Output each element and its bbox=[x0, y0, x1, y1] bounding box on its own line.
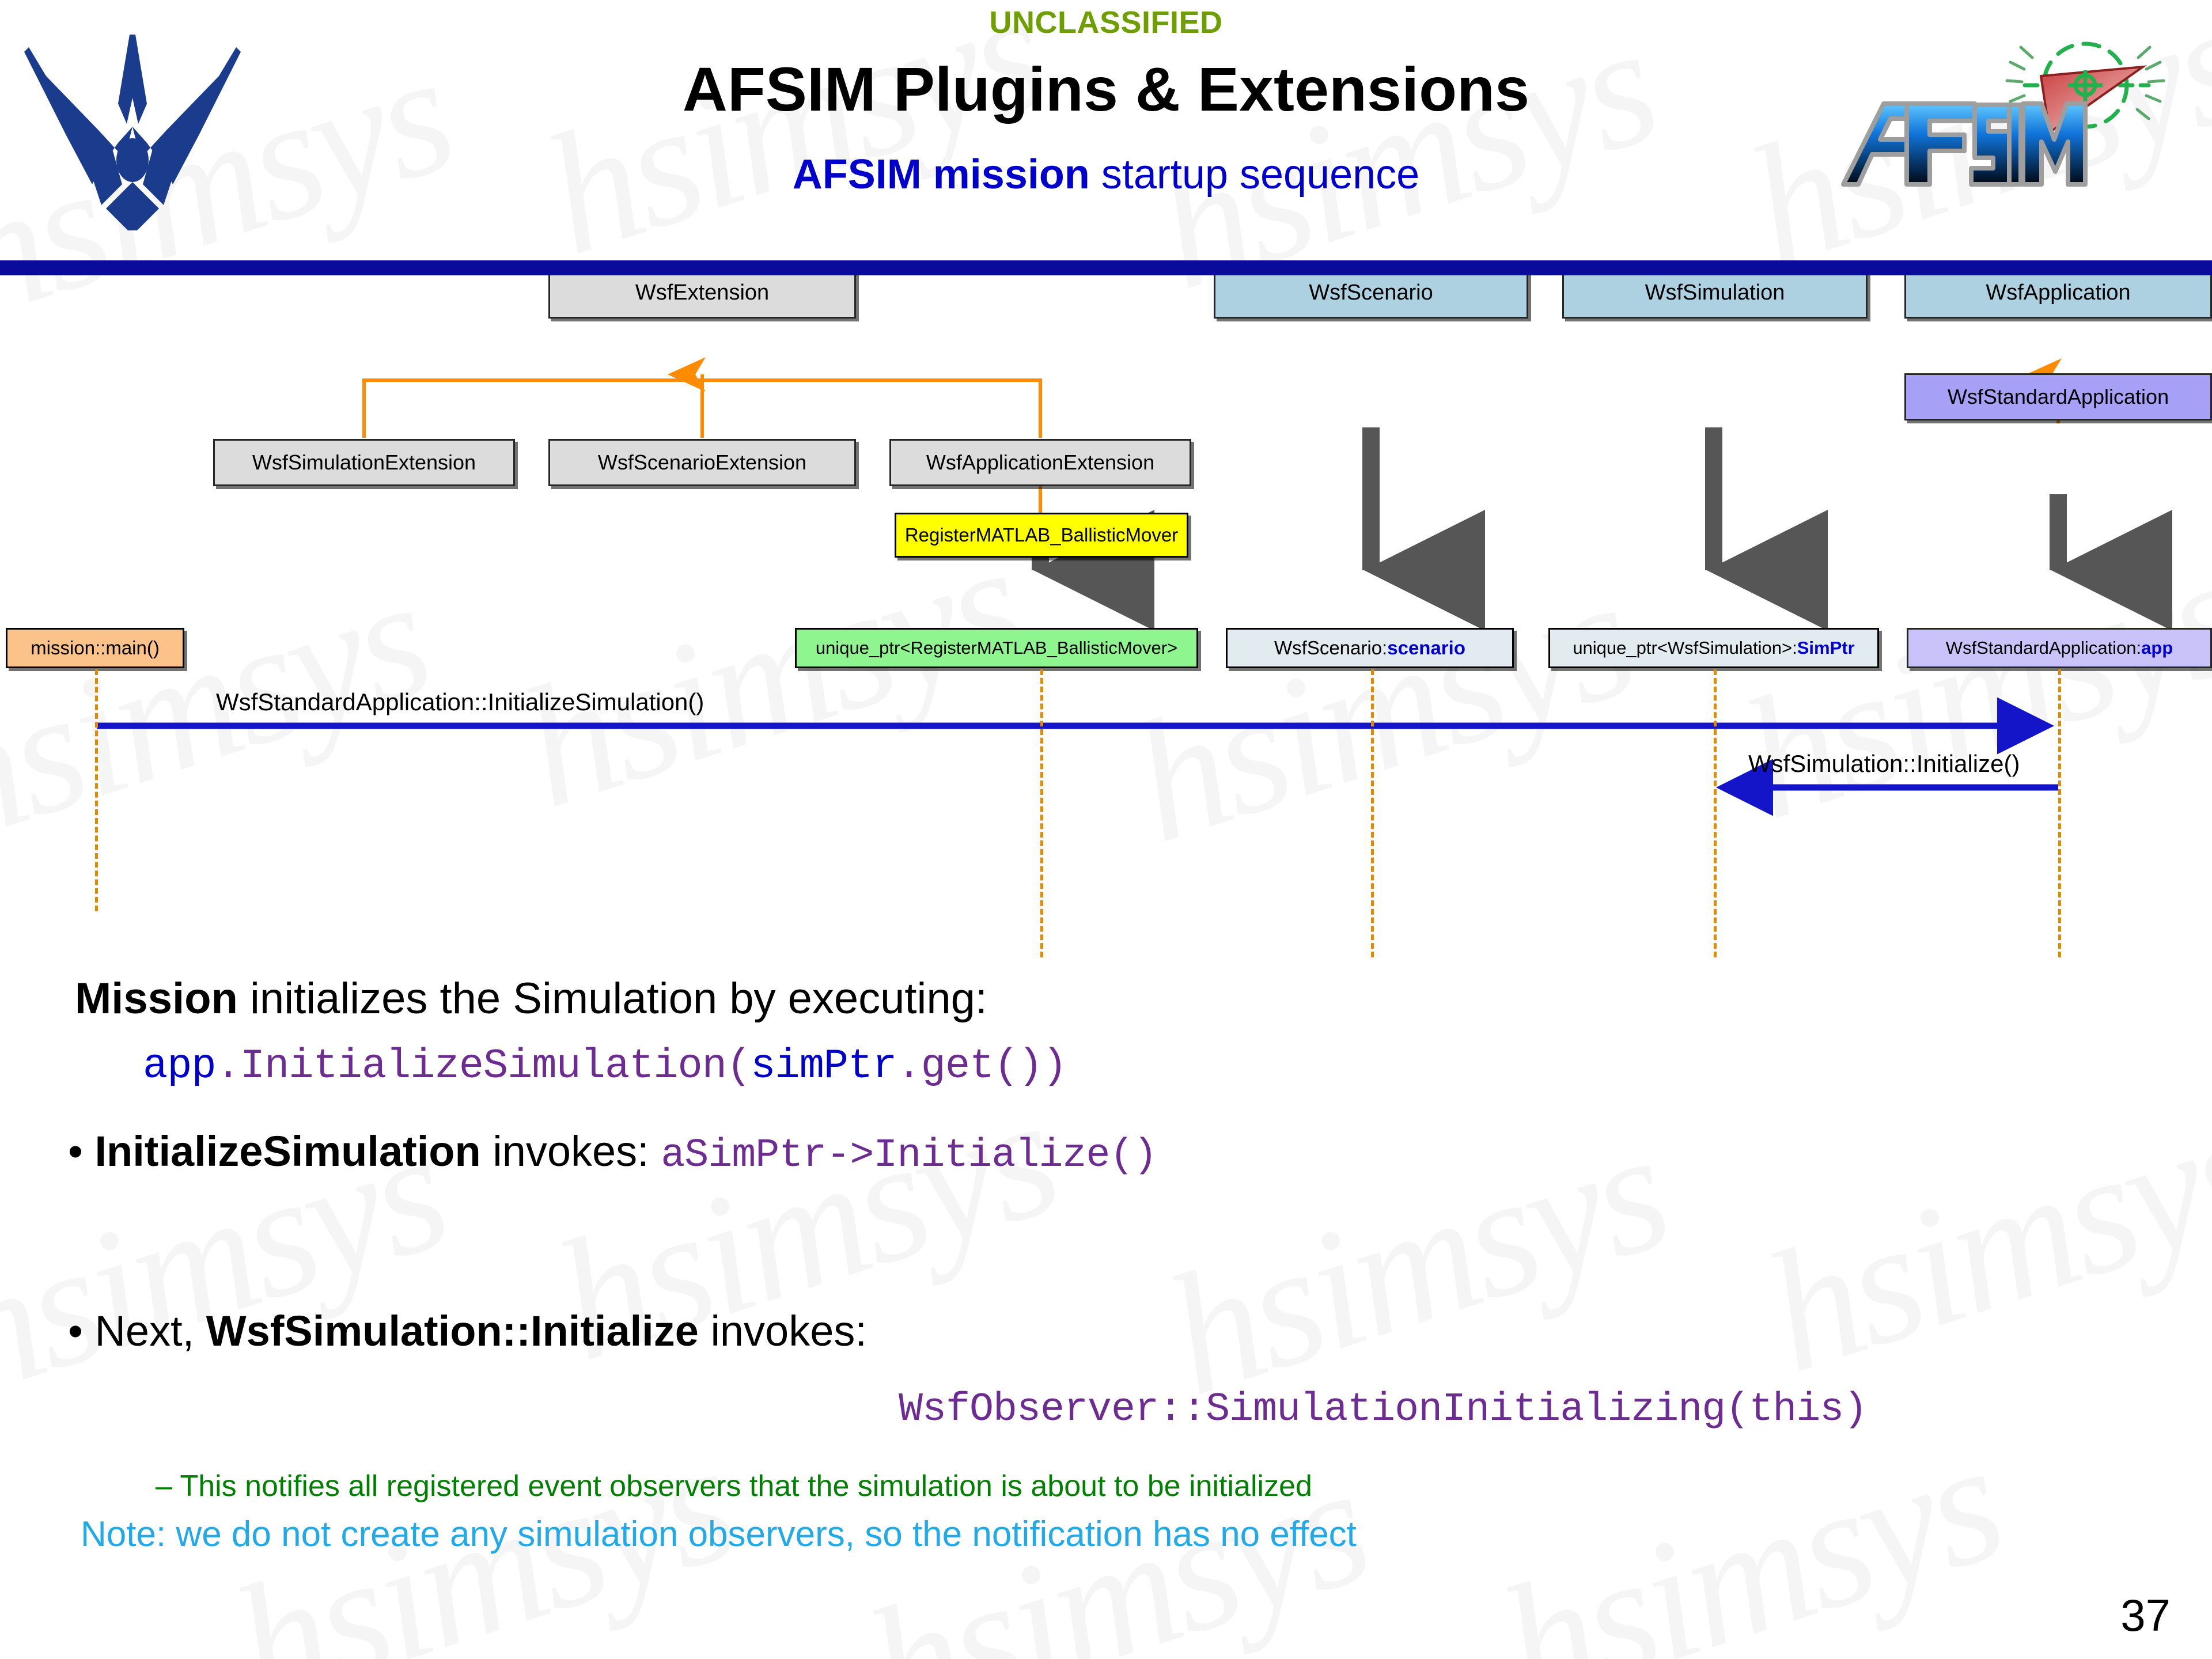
watermark-text: hsimsys bbox=[1744, 1067, 2212, 1412]
instance-type: unique_ptr<RegisterMATLAB_BallisticMover… bbox=[816, 639, 1177, 658]
body-bullet-1: • InitializeSimulation invokes: aSimPtr-… bbox=[68, 1127, 1157, 1179]
instance-box-mission-main[interactable]: mission::main() bbox=[6, 628, 184, 668]
class-box-label: WsfExtension bbox=[635, 282, 769, 305]
instance-type: unique_ptr<WsfSimulation>: bbox=[1573, 639, 1797, 658]
lifeline-unique-ptr-rmbm bbox=[1040, 669, 1043, 957]
class-box-label: WsfSimulation bbox=[1645, 282, 1785, 305]
instance-type: mission::main() bbox=[31, 638, 160, 658]
subtitle-rest: startup sequence bbox=[1090, 151, 1419, 198]
body-line-1-rest: initializes the Simulation by executing: bbox=[238, 974, 987, 1023]
page-number: 37 bbox=[2120, 1589, 2171, 1642]
afsim-brand-logo bbox=[1820, 17, 2200, 190]
bullet-marker: • bbox=[68, 1127, 83, 1175]
class-box-label: WsfScenarioExtension bbox=[598, 452, 806, 474]
bullet-2-rest: invokes: bbox=[699, 1307, 867, 1355]
instance-box-wsf-standard-application-app[interactable]: WsfStandardApplication: app bbox=[1907, 628, 2212, 668]
message-label-wsf-simulation-initialize: WsfSimulation::Initialize() bbox=[1748, 750, 2020, 778]
class-box-wsf-standard-application[interactable]: WsfStandardApplication bbox=[1904, 373, 2212, 421]
body-line-1-bold: Mission bbox=[75, 974, 238, 1023]
class-box-wsf-application-extension[interactable]: WsfApplicationExtension bbox=[889, 439, 1191, 486]
code-token-simptr: simPtr bbox=[751, 1043, 896, 1090]
message-label-initialize-simulation: WsfStandardApplication::InitializeSimula… bbox=[216, 688, 704, 716]
watermark-text: hsimsys bbox=[1145, 1090, 1687, 1435]
bullet-2-pre: Next, bbox=[94, 1307, 206, 1355]
code-token-get: .get()) bbox=[896, 1043, 1066, 1090]
class-box-label: WsfApplication bbox=[1986, 282, 2130, 305]
class-box-label: WsfApplicationExtension bbox=[926, 452, 1154, 474]
class-box-wsf-extension[interactable]: WsfExtension bbox=[548, 268, 856, 319]
class-box-wsf-scenario[interactable]: WsfScenario bbox=[1214, 268, 1528, 319]
class-box-wsf-simulation-extension[interactable]: WsfSimulationExtension bbox=[213, 439, 515, 486]
subbullet-marker: – bbox=[156, 1469, 172, 1503]
diagram-connectors bbox=[0, 271, 2212, 962]
code-token-app: app bbox=[143, 1043, 216, 1090]
watermark-text: hsimsys bbox=[523, 0, 1065, 295]
title-divider-rule bbox=[0, 260, 2212, 275]
lifeline-mission-main bbox=[95, 669, 98, 911]
lifeline-scenario bbox=[1371, 669, 1374, 957]
body-code-line-1: app.InitializeSimulation(simPtr.get()) bbox=[143, 1043, 1067, 1090]
bullet-marker: • bbox=[68, 1307, 83, 1355]
bullet-1-code: aSimPtr->Initialize() bbox=[661, 1133, 1157, 1179]
class-box-wsf-application[interactable]: WsfApplication bbox=[1904, 268, 2212, 319]
lifeline-app bbox=[2058, 669, 2061, 957]
class-box-register-matlab-ballistic-mover[interactable]: RegisterMATLAB_BallisticMover bbox=[895, 513, 1188, 558]
instance-value: scenario bbox=[1387, 638, 1465, 658]
body-line-1: Mission initializes the Simulation by ex… bbox=[75, 974, 987, 1024]
subtitle-bold: AFSIM mission bbox=[793, 151, 1090, 198]
code-token-initialize-simulation: .InitializeSimulation( bbox=[216, 1043, 751, 1090]
instance-value: app bbox=[2141, 639, 2173, 658]
slide: hsimsys hsimsys hsimsys hsimsys hsimsys … bbox=[0, 0, 2212, 1659]
air-force-symbol-logo bbox=[12, 12, 253, 230]
subbullet-text: This notifies all registered event obser… bbox=[180, 1469, 1312, 1503]
instance-box-unique-ptr-register-matlab-ballistic-mover[interactable]: unique_ptr<RegisterMATLAB_BallisticMover… bbox=[795, 628, 1198, 668]
bullet-1-bold: InitializeSimulation bbox=[94, 1127, 480, 1175]
body-subbullet-1: – This notifies all registered event obs… bbox=[156, 1469, 1312, 1503]
lifeline-sim-ptr bbox=[1714, 669, 1717, 957]
class-box-label: WsfStandardApplication bbox=[1948, 386, 2169, 408]
body-code-line-2: WsfObserver::SimulationInitializing(this… bbox=[899, 1387, 1867, 1433]
bullet-2-bold: WsfSimulation::Initialize bbox=[206, 1307, 699, 1355]
class-box-label: RegisterMATLAB_BallisticMover bbox=[905, 525, 1178, 546]
class-box-wsf-simulation[interactable]: WsfSimulation bbox=[1562, 268, 1868, 319]
body-bullet-2: • Next, WsfSimulation::Initialize invoke… bbox=[68, 1306, 867, 1355]
instance-type: WsfStandardApplication: bbox=[1946, 639, 2141, 658]
body-note: Note: we do not create any simulation ob… bbox=[81, 1514, 1357, 1555]
watermark-text: hsimsys bbox=[1479, 1402, 2021, 1659]
instance-type: WsfScenario: bbox=[1274, 638, 1387, 658]
class-box-wsf-scenario-extension[interactable]: WsfScenarioExtension bbox=[548, 439, 856, 486]
class-box-label: WsfScenario bbox=[1309, 282, 1433, 305]
class-box-label: WsfSimulationExtension bbox=[252, 452, 476, 474]
instance-box-wsf-scenario-scenario[interactable]: WsfScenario: scenario bbox=[1226, 628, 1514, 668]
instance-box-unique-ptr-wsf-simulation-simptr[interactable]: unique_ptr<WsfSimulation>: SimPtr bbox=[1548, 628, 1879, 668]
bullet-1-rest: invokes: bbox=[481, 1127, 661, 1175]
uml-sequence-diagram: WsfExtension WsfScenario WsfSimulation W… bbox=[0, 271, 2212, 962]
instance-value: SimPtr bbox=[1797, 639, 1855, 658]
